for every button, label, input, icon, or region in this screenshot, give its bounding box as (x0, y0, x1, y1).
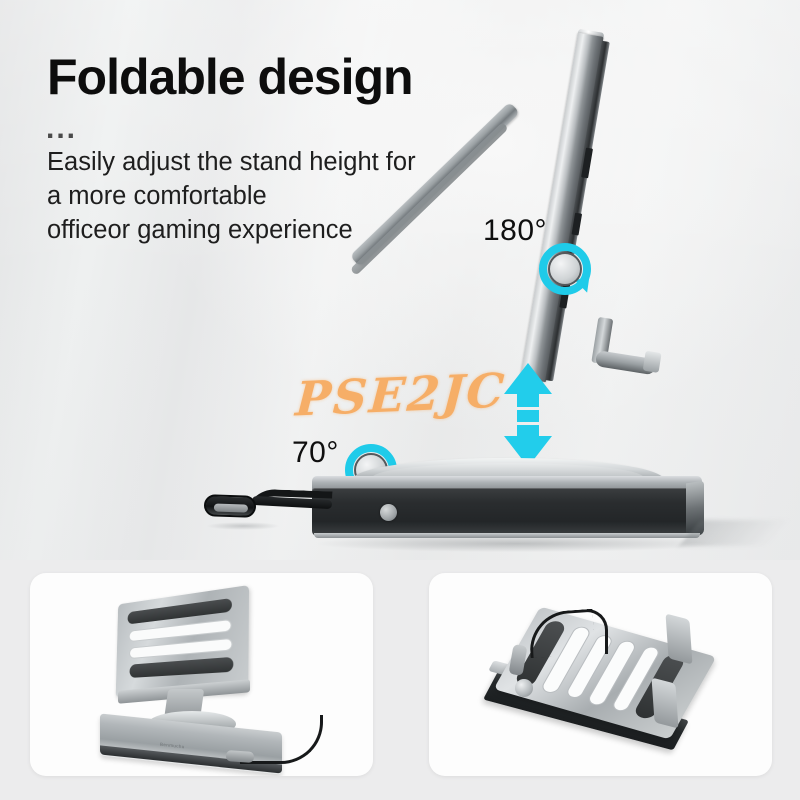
base-side-shadow (679, 520, 791, 546)
angle-label-top: 180° (483, 214, 547, 248)
base-front-face (312, 488, 702, 536)
upright-stand-drawing: Benmuchu (30, 573, 373, 776)
base-drop-shadow (318, 538, 714, 552)
stand-bottom-hook (590, 317, 667, 379)
panel-slot (129, 657, 233, 678)
docking-base (312, 476, 702, 542)
usb-c-slot (214, 503, 248, 512)
tray-wing (665, 614, 692, 665)
support-arm-shadow (350, 122, 509, 276)
folded-flat-stand-photo (429, 573, 772, 776)
tray-wing (651, 678, 678, 729)
hinge-knob (515, 679, 533, 697)
hook-tip (643, 351, 662, 373)
plate-face (520, 33, 603, 382)
arrow-down-shaft-segment (517, 415, 539, 422)
connector-shadow (206, 522, 280, 530)
product-marketing-image: Foldable design ... Easily adjust the st… (0, 0, 800, 800)
upright-stand-photo: Benmuchu (30, 573, 373, 776)
status-led (380, 504, 397, 521)
up-down-arrows-icon (504, 363, 552, 467)
watermark-text: PSE2JC (294, 363, 508, 427)
stand-back-plate (520, 33, 603, 382)
arrow-up-head (504, 363, 552, 394)
hinge-disc (548, 252, 582, 286)
arrow-up-shaft (517, 393, 539, 407)
folded-stand-drawing (429, 573, 772, 776)
angle-label-bottom: 70° (292, 436, 339, 470)
cable-connector (226, 750, 255, 763)
usb-c-connector-icon (204, 494, 257, 518)
rotation-hinge-icon (539, 243, 591, 295)
cable-loop-right (587, 609, 608, 654)
hero-product-illustration: 180° 70° (0, 0, 800, 570)
panel-slot (129, 638, 232, 659)
